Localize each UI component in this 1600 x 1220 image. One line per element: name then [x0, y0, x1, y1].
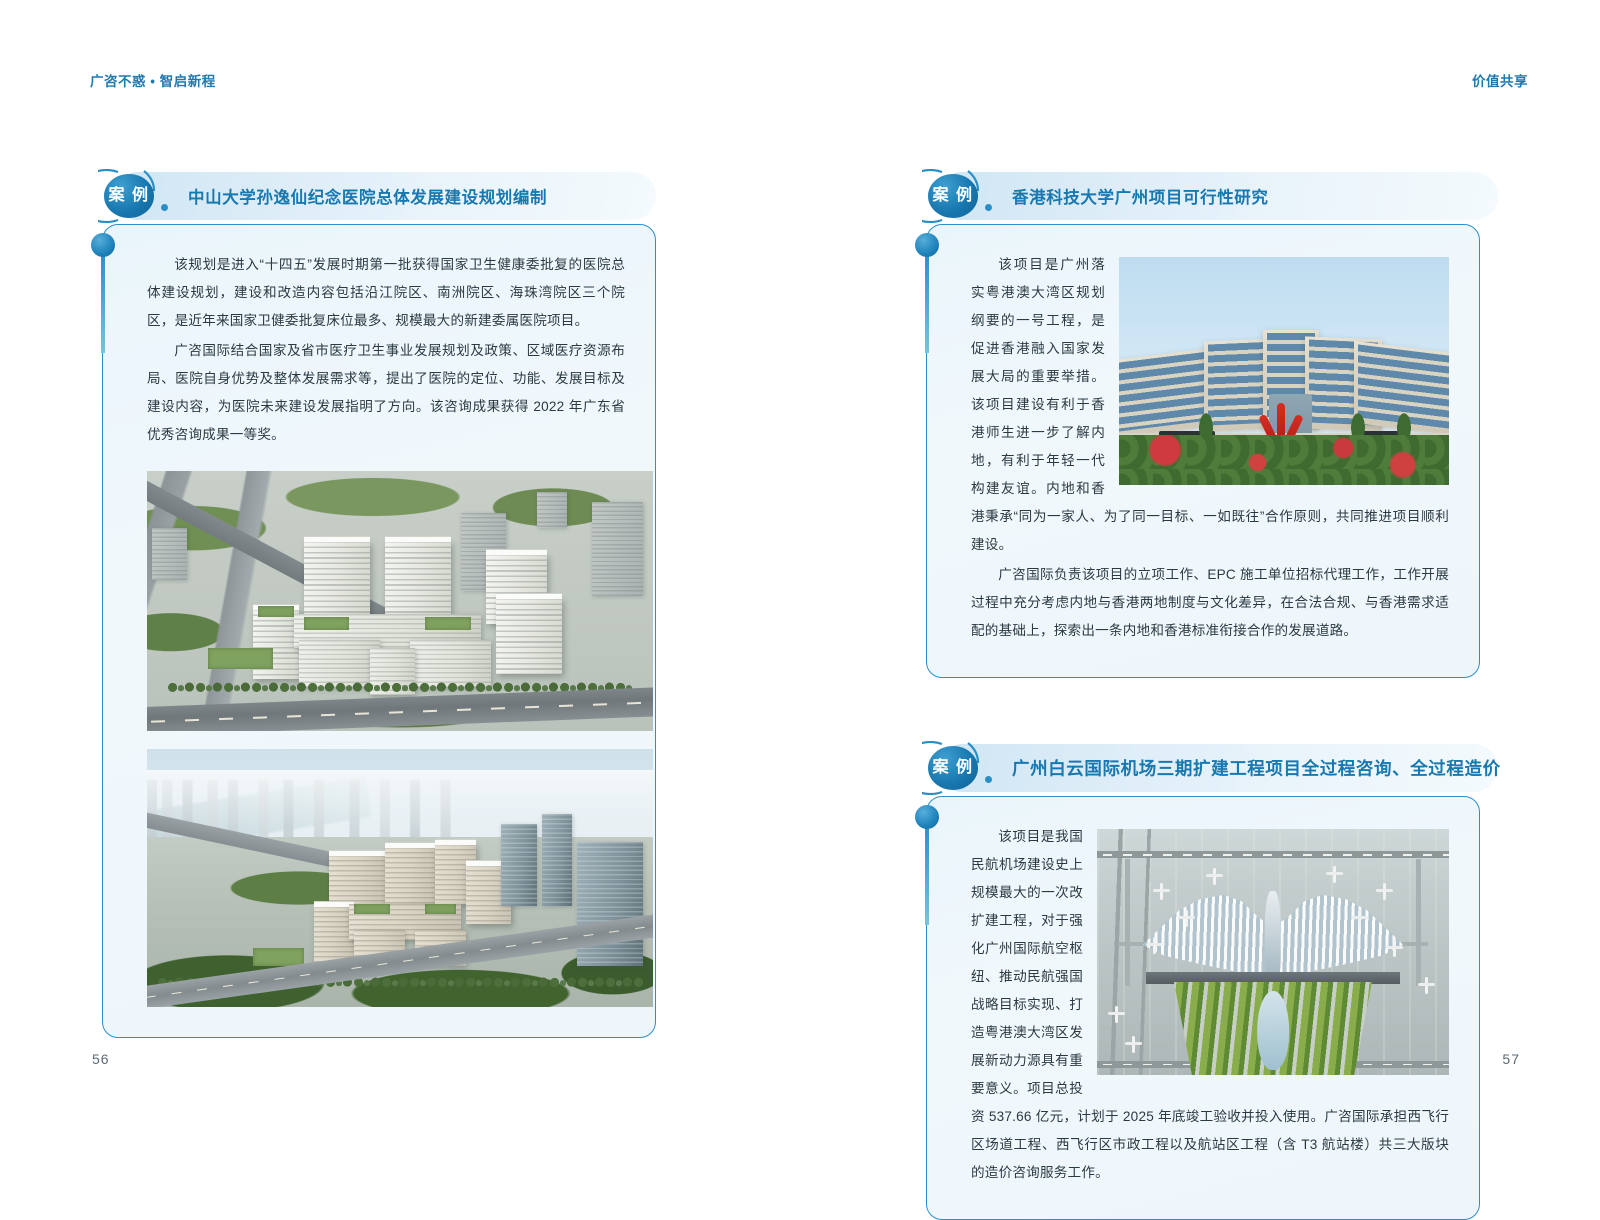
taxiway — [1416, 859, 1421, 987]
hospital-tower — [385, 541, 451, 619]
badge-disc: 案 例 — [104, 174, 154, 218]
green-roof — [208, 648, 274, 669]
badge-connector-dot — [985, 776, 992, 783]
case-body-sysu-hospital: 该规划是进入“十四五”发展时期第一批获得国家卫生健康委批复的医院总体建设规划，建… — [102, 224, 656, 1038]
case-paragraph: 该规划是进入“十四五”发展时期第一批获得国家卫生健康委批复的医院总体建设规划，建… — [147, 251, 625, 335]
tower-roof — [486, 549, 547, 555]
badge-label: 案 例 — [109, 188, 150, 204]
marker-stem — [925, 821, 929, 925]
parked-aircraft — [1178, 910, 1195, 927]
case-header-hkust-gz: 案 例 香港科技大学广州项目可行性研究 — [920, 168, 1480, 224]
green-roof — [354, 904, 389, 914]
tower-roof — [314, 901, 354, 907]
background-building — [501, 824, 536, 907]
case-badge: 案 例 — [920, 168, 990, 224]
left-page-column: 案 例 中山大学孙逸仙纪念医院总体发展建设规划编制 该规划是进入“十四五”发展时… — [96, 168, 656, 1038]
green-roof — [425, 904, 455, 914]
paragraph-marker — [915, 233, 939, 353]
case-header-baiyun-airport: 案 例 广州白云国际机场三期扩建工程项目全过程咨询、全过程造价 — [920, 740, 1480, 796]
parked-aircraft — [1153, 883, 1170, 900]
marker-stem — [101, 249, 105, 353]
marker-stem — [925, 249, 929, 353]
paragraph-marker — [915, 805, 939, 925]
terminal-spine — [1265, 891, 1281, 984]
runway — [1097, 851, 1449, 858]
marker-ball — [915, 805, 939, 829]
background-building — [542, 814, 572, 907]
hospital-tower — [496, 598, 562, 673]
hospital-podium — [410, 640, 491, 687]
tower-roof — [385, 536, 451, 542]
hkust-guangzhou-campus-photo — [1119, 257, 1449, 485]
tower-roof — [385, 842, 436, 848]
tower-roof — [435, 839, 475, 845]
hospital-aerial-rendering-1 — [147, 471, 653, 731]
case-paragraph: 广咨国际负责该项目的立项工作、EPC 施工单位招标代理工作，工作开展过程中充分考… — [971, 561, 1449, 645]
case-badge: 案 例 — [96, 168, 166, 224]
badge-disc: 案 例 — [928, 746, 978, 790]
parked-aircraft — [1376, 883, 1393, 900]
parked-aircraft — [1386, 940, 1403, 957]
badge-label: 案 例 — [933, 760, 974, 776]
background-building — [592, 502, 643, 596]
marker-ball — [915, 233, 939, 257]
hospital-tower — [385, 847, 436, 909]
header-section-name: 价值共享 — [1472, 70, 1528, 90]
case-body-hkust-gz: 该项目是广州落实粤港澳大湾区规划纲要的一号工程，是促进香港融入国家发展大局的重要… — [926, 224, 1480, 678]
header-slogan: 广咨不惑 • 智启新程 — [90, 70, 216, 90]
case-header-sysu-hospital: 案 例 中山大学孙逸仙纪念医院总体发展建设规划编制 — [96, 168, 656, 224]
page-number-right: 57 — [1502, 1051, 1520, 1067]
tower-roof — [304, 536, 370, 542]
t3-terminal — [1143, 873, 1403, 981]
case-title: 中山大学孙逸仙纪念医院总体发展建设规划编制 — [188, 184, 547, 208]
green-roof — [304, 617, 350, 630]
page-number-left: 56 — [92, 1051, 110, 1067]
hospital-aerial-rendering-2 — [147, 749, 653, 1007]
reflecting-pool — [1257, 991, 1289, 1070]
case-badge: 案 例 — [920, 740, 990, 796]
parked-aircraft — [1418, 977, 1435, 994]
background-building — [537, 492, 567, 528]
running-header: 广咨不惑 • 智启新程 价值共享 — [0, 70, 1600, 94]
badge-connector-dot — [985, 204, 992, 211]
parked-aircraft — [1108, 1006, 1125, 1023]
case-body-baiyun-airport: 该项目是我国民航机场建设史上规模最大的一次改扩建工程，对于强化广州国际航空枢纽、… — [926, 796, 1480, 1220]
paragraph-marker — [91, 233, 115, 353]
parked-aircraft — [1351, 910, 1368, 927]
case-title: 香港科技大学广州项目可行性研究 — [1012, 184, 1269, 208]
case-paragraph: 广咨国际结合国家及省市医疗卫生事业发展规划及政策、区域医疗资源布局、医院自身优势… — [147, 337, 625, 449]
background-building — [152, 528, 187, 580]
green-roof — [425, 617, 471, 630]
green-roof — [253, 948, 304, 966]
taxiway — [1125, 859, 1130, 987]
badge-connector-dot — [161, 204, 168, 211]
tower-roof — [329, 850, 385, 856]
marker-ball — [91, 233, 115, 257]
case-title: 广州白云国际机场三期扩建工程项目全过程咨询、全过程造价 — [1012, 756, 1501, 781]
hospital-podium — [299, 640, 380, 687]
parked-aircraft — [1146, 937, 1163, 954]
parked-aircraft — [1125, 1036, 1142, 1053]
green-roof — [258, 606, 293, 616]
hospital-tower — [304, 541, 370, 619]
hospital-tower — [314, 906, 354, 963]
badge-disc: 案 例 — [928, 174, 978, 218]
parked-aircraft — [1326, 866, 1343, 883]
parked-aircraft — [1206, 868, 1223, 885]
badge-label: 案 例 — [933, 188, 974, 204]
baiyun-airport-t3-rendering — [1097, 829, 1449, 1075]
tower-roof — [496, 593, 562, 599]
right-page-column: 案 例 香港科技大学广州项目可行性研究 — [920, 168, 1480, 1220]
flower-hedge — [1119, 435, 1449, 485]
